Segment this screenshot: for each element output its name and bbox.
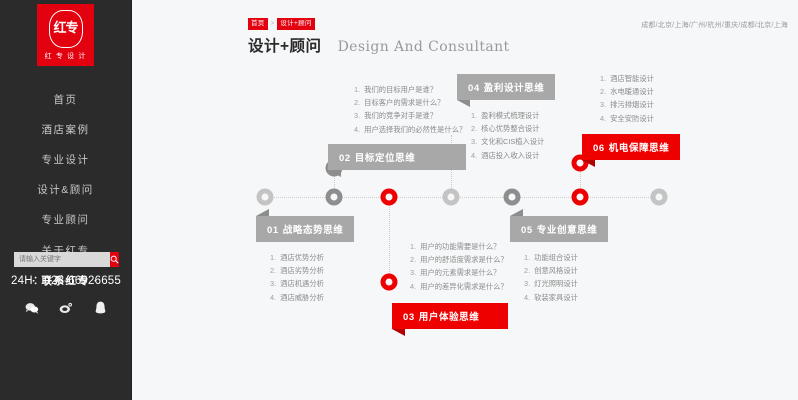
list-item: 安全安防设计: [600, 112, 680, 125]
card-05-list: 功能组合设计 创意风格设计 灯光照明设计 软装家具设计: [510, 251, 608, 304]
list-item: 酒店优势分析: [270, 251, 354, 264]
card-02-header[interactable]: 02目标定位思维: [328, 144, 466, 170]
card-03-title: 用户体验思维: [419, 312, 480, 323]
list-item: 用户选择我们的必然性是什么？: [354, 123, 466, 136]
card-05-title: 专业创意思维: [537, 225, 598, 236]
card-01-number: 01: [267, 225, 279, 236]
card-fold: [256, 209, 269, 216]
list-item: 水电暖通设计: [600, 85, 680, 98]
timeline-stem-03: [389, 197, 390, 282]
list-item: 用户的功能需要是什么？: [410, 240, 508, 253]
card-06-list: 酒店智能设计 水电暖通设计 排污排烟设计 安全安防设计: [586, 72, 680, 125]
card-02: 我们的目标用户是谁？ 目标客户的需求是什么？ 我们的竞争对手是谁？ 用户选择我们…: [340, 83, 466, 170]
card-04-list: 盈利模式梳理设计 核心优势整合设计 文化和CIS植入设计 酒店投入收入设计: [457, 109, 555, 162]
list-item: 酒店机遇分析: [270, 277, 354, 290]
list-item: 核心优势整合设计: [471, 122, 555, 135]
card-06: 酒店智能设计 水电暖通设计 排污排烟设计 安全安防设计 06机电保障思维: [586, 72, 680, 160]
timeline-node-7[interactable]: [651, 189, 668, 206]
timeline-node-5[interactable]: [504, 189, 521, 206]
card-05-header[interactable]: 05专业创意思维: [510, 216, 608, 242]
list-item: 酒店投入收入设计: [471, 149, 555, 162]
timeline-axis: [258, 197, 663, 198]
card-01: 01战略态势思维 酒店优势分析 酒店劣势分析 酒店机遇分析 酒店威胁分析: [256, 216, 354, 304]
card-03-list: 用户的功能需要是什么？ 用户的舒适度需求是什么？ 用户的元素需求是什么？ 用户的…: [396, 240, 508, 293]
node-inner: [577, 194, 584, 201]
card-01-list: 酒店优势分析 酒店劣势分析 酒店机遇分析 酒店威胁分析: [256, 251, 354, 304]
list-item: 酒店智能设计: [600, 72, 680, 85]
card-fold: [510, 209, 523, 216]
node-inner: [331, 194, 338, 201]
list-item: 盈利模式梳理设计: [471, 109, 555, 122]
list-item: 酒店劣势分析: [270, 264, 354, 277]
card-04-header[interactable]: 04盈利设计思维: [457, 74, 555, 100]
card-03: 用户的功能需要是什么？ 用户的舒适度需求是什么？ 用户的元素需求是什么？ 用户的…: [396, 240, 508, 329]
page-root: 红专 红 专 设 计 首页 酒店案例 专业设计 设计&顾问 专业顾问 关于红专 …: [0, 0, 798, 400]
card-fold: [328, 170, 341, 177]
card-06-title: 机电保障思维: [609, 143, 670, 154]
card-04: 04盈利设计思维 盈利模式梳理设计 核心优势整合设计 文化和CIS植入设计 酒店…: [457, 74, 555, 162]
node-inner: [656, 194, 663, 201]
list-item: 我们的竞争对手是谁？: [354, 109, 466, 122]
card-04-number: 04: [468, 83, 480, 94]
list-item: 我们的目标用户是谁？: [354, 83, 466, 96]
node-inner: [448, 194, 455, 201]
list-item: 排污排烟设计: [600, 98, 680, 111]
timeline-node-6[interactable]: [572, 189, 589, 206]
list-item: 用户的舒适度需求是什么？: [410, 253, 508, 266]
node-inner: [386, 279, 393, 286]
node-inner: [386, 194, 393, 201]
list-item: 目标客户的需求是什么？: [354, 96, 466, 109]
node-inner: [262, 194, 269, 201]
card-05: 05专业创意思维 功能组合设计 创意风格设计 灯光照明设计 软装家具设计: [510, 216, 608, 304]
card-02-list: 我们的目标用户是谁？ 目标客户的需求是什么？ 我们的竞争对手是谁？ 用户选择我们…: [340, 83, 466, 136]
node-inner: [509, 194, 516, 201]
card-fold: [392, 329, 405, 336]
card-06-header[interactable]: 06机电保障思维: [582, 134, 680, 160]
card-02-title: 目标定位思维: [355, 153, 416, 164]
timeline-node-4[interactable]: [443, 189, 460, 206]
card-01-header[interactable]: 01战略态势思维: [256, 216, 354, 242]
card-fold: [582, 160, 595, 167]
card-06-number: 06: [593, 143, 605, 154]
timeline-node-1[interactable]: [257, 189, 274, 206]
card-02-number: 02: [339, 153, 351, 164]
list-item: 软装家具设计: [524, 291, 608, 304]
timeline-node-2[interactable]: [326, 189, 343, 206]
list-item: 酒店威胁分析: [270, 291, 354, 304]
list-item: 用户的差异化需求是什么？: [410, 280, 508, 293]
card-03-number: 03: [403, 312, 415, 323]
card-fold: [457, 100, 470, 107]
list-item: 功能组合设计: [524, 251, 608, 264]
list-item: 用户的元素需求是什么？: [410, 266, 508, 279]
list-item: 灯光照明设计: [524, 277, 608, 290]
timeline-node-3[interactable]: [381, 189, 398, 206]
card-05-number: 05: [521, 225, 533, 236]
list-item: 文化和CIS植入设计: [471, 135, 555, 148]
timeline-connector-node-03[interactable]: [381, 274, 398, 291]
card-03-header[interactable]: 03用户体验思维: [392, 303, 508, 329]
card-01-title: 战略态势思维: [283, 225, 344, 236]
card-04-title: 盈利设计思维: [484, 83, 545, 94]
timeline: 01战略态势思维 酒店优势分析 酒店劣势分析 酒店机遇分析 酒店威胁分析 我们的…: [0, 0, 798, 400]
list-item: 创意风格设计: [524, 264, 608, 277]
